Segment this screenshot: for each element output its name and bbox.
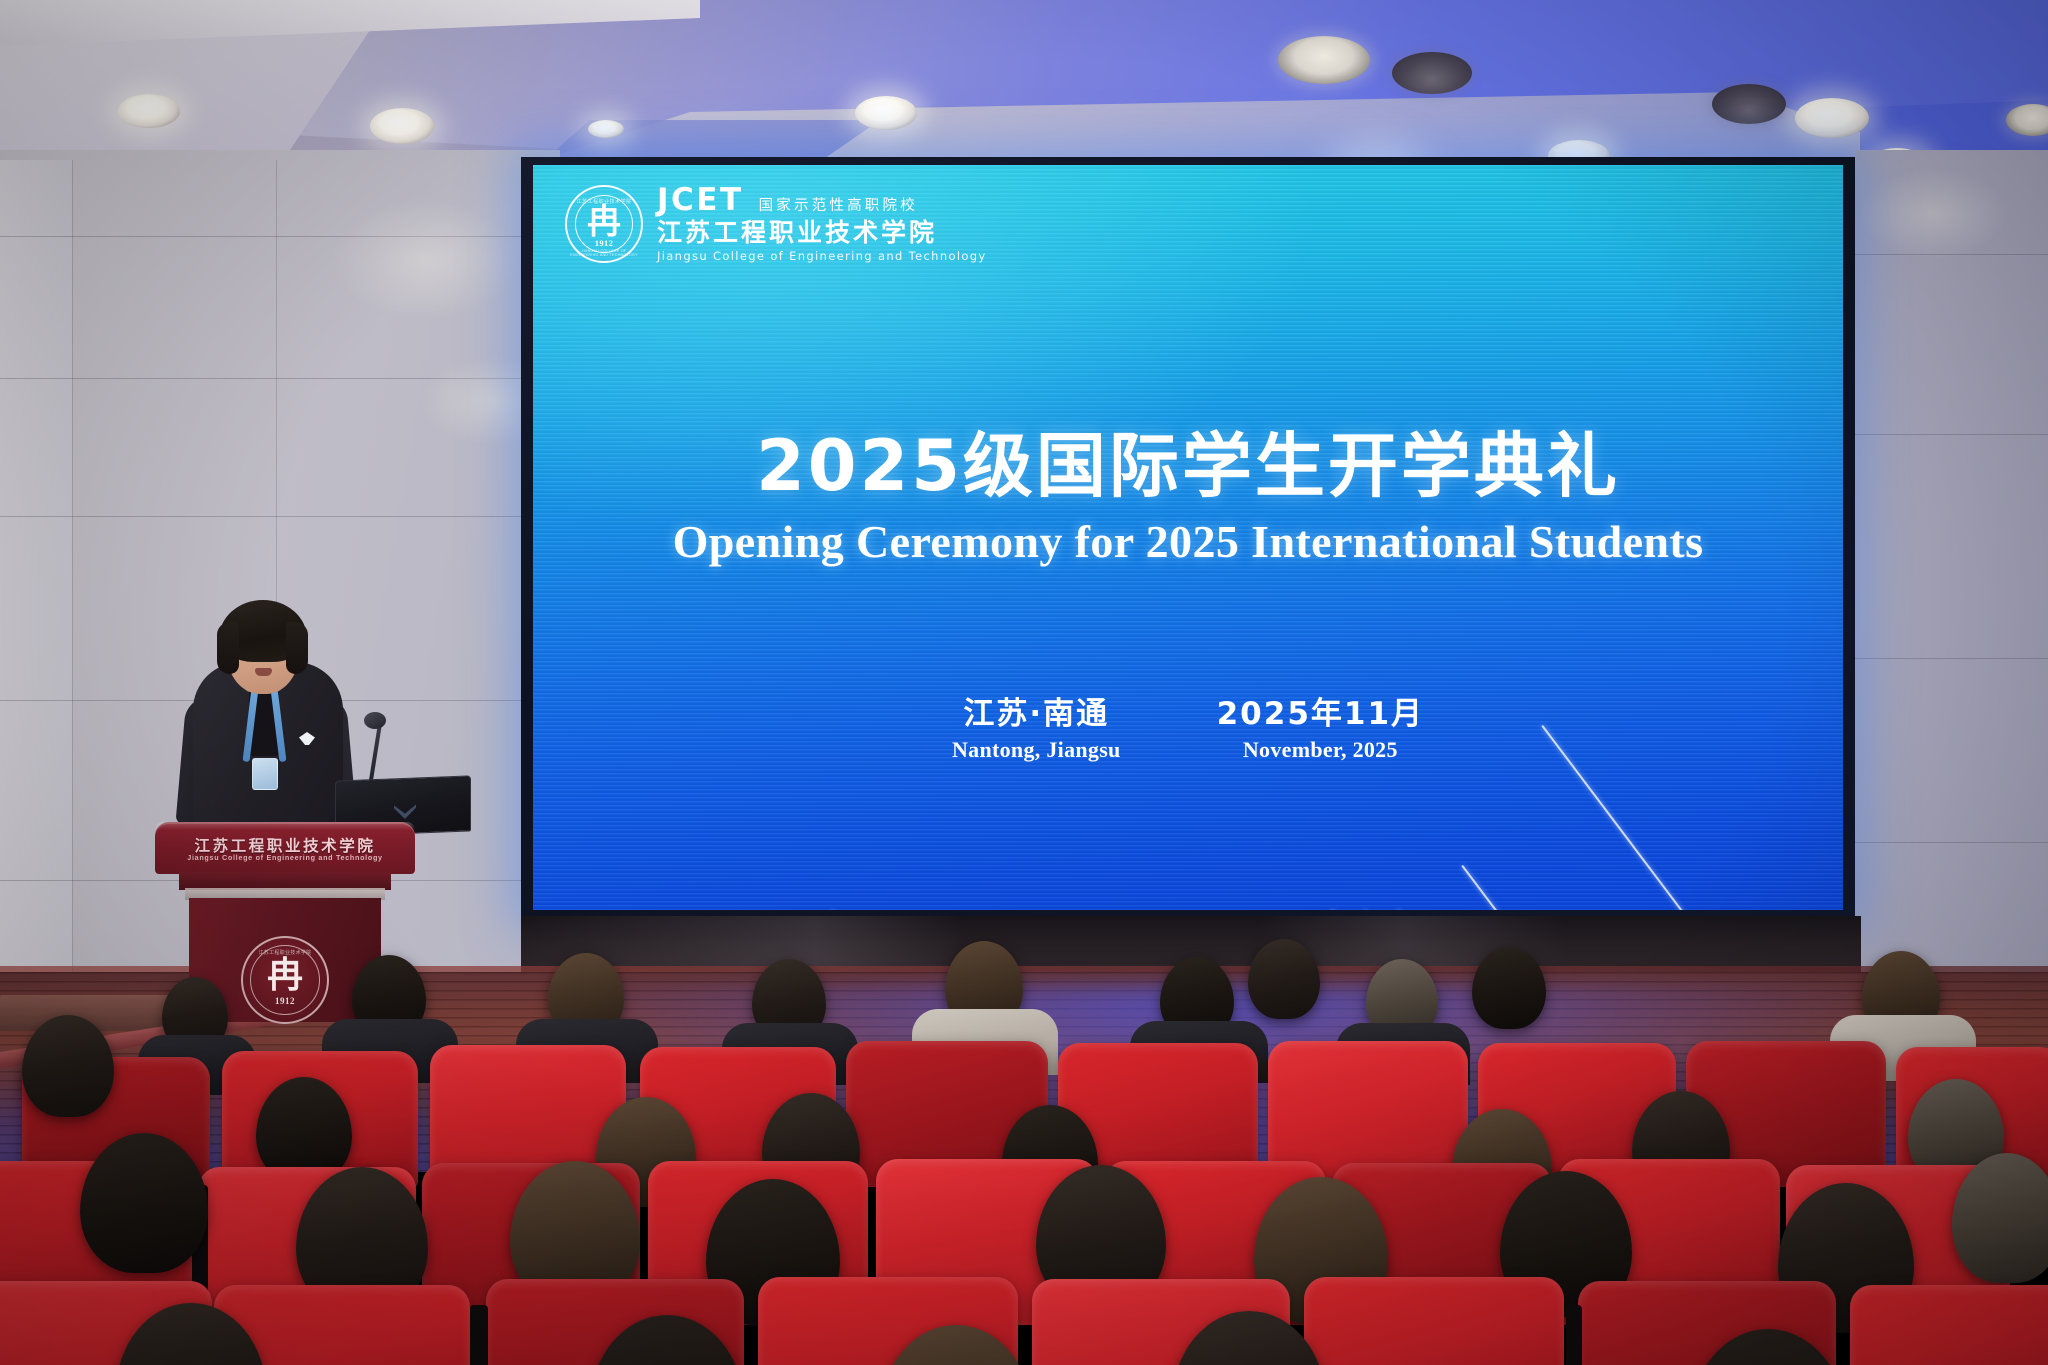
speaker-hair-left xyxy=(217,622,239,674)
wall-panel-seam xyxy=(0,516,560,517)
seal-glyph: 冉 xyxy=(587,205,621,239)
ceiling-downlight xyxy=(1795,98,1869,138)
logo-text-block: JCET 国家示范性高职院校 江苏工程职业技术学院 Jiangsu Colleg… xyxy=(657,185,987,263)
footer-date-english: November, 2025 xyxy=(1217,737,1424,763)
wall-panel-seam xyxy=(1855,842,2048,843)
wall-left-return xyxy=(0,160,72,1040)
footer-location-chinese: 江苏·南通 xyxy=(952,695,1121,734)
audience-head xyxy=(1472,947,1546,1029)
audience-seat[interactable] xyxy=(1850,1285,2048,1365)
wall-panel-seam xyxy=(1855,658,2048,659)
slide-logo: 江苏工程职业技术学院 冉 1912 JIANGSU COLLEGE OF ENG… xyxy=(565,185,987,263)
footer-date-chinese: 2025年11月 xyxy=(1217,695,1424,734)
podium-emblem-glyph: 冉 xyxy=(267,958,303,994)
speaker-mouth xyxy=(255,668,272,676)
logo-acronym: JCET xyxy=(657,185,744,216)
wall-right xyxy=(1855,150,2048,1060)
wall-light-reflection xyxy=(330,200,520,320)
speaker-hair-right xyxy=(286,622,308,674)
college-seal-icon: 江苏工程职业技术学院 冉 1912 JIANGSU COLLEGE OF ENG… xyxy=(565,185,643,263)
audience-seating xyxy=(0,985,2048,1365)
gooseneck-microphone-icon xyxy=(364,712,386,729)
ceiling-downlight xyxy=(588,120,624,138)
id-badge xyxy=(252,758,278,790)
slide-footer: 江苏·南通 Nantong, Jiangsu 2025年11月 November… xyxy=(533,695,1843,763)
audience-head xyxy=(1248,939,1320,1019)
footer-location-english: Nantong, Jiangsu xyxy=(952,737,1121,763)
ceiling-downlight xyxy=(855,96,917,130)
logo-tagline: 国家示范性高职院校 xyxy=(759,199,918,214)
seal-arc-bottom-text: JIANGSU COLLEGE OF ENGINEERING AND TECHN… xyxy=(567,249,641,257)
ceiling-downlight xyxy=(1712,84,1786,124)
logo-top-row: JCET 国家示范性高职院校 xyxy=(657,185,987,216)
footer-location: 江苏·南通 Nantong, Jiangsu xyxy=(952,695,1121,763)
auditorium-scene: 江苏工程职业技术学院 冉 1912 JIANGSU COLLEGE OF ENG… xyxy=(0,0,2048,1365)
wall-light-reflection xyxy=(1858,168,2008,260)
logo-name-chinese: 江苏工程职业技术学院 xyxy=(657,219,987,247)
slide-title-english: Opening Ceremony for 2025 International … xyxy=(533,515,1843,568)
seat-gap xyxy=(1566,1305,1582,1365)
audience-head xyxy=(22,1015,114,1117)
audience-seat[interactable] xyxy=(1304,1277,1564,1365)
podium-name-english: Jiangsu College of Engineering and Techn… xyxy=(155,853,415,862)
footer-date: 2025年11月 November, 2025 xyxy=(1217,695,1424,763)
led-screen: 江苏工程职业技术学院 冉 1912 JIANGSU COLLEGE OF ENG… xyxy=(533,165,1843,910)
slide-title-chinese: 2025级国际学生开学典礼 xyxy=(533,410,1843,511)
ceiling-downlight xyxy=(118,94,180,128)
ceiling-downlight xyxy=(1278,36,1370,84)
wall-panel-seam xyxy=(1855,434,2048,435)
laptop-logo-icon xyxy=(394,805,416,820)
ceiling-downlight xyxy=(1392,52,1472,94)
ceiling-downlight xyxy=(370,108,434,144)
podium-header-panel: 江苏工程职业技术学院 Jiangsu College of Engineerin… xyxy=(155,822,415,874)
wall-panel-seam xyxy=(72,160,73,1040)
logo-name-english: Jiangsu College of Engineering and Techn… xyxy=(657,251,987,263)
seat-gap xyxy=(470,1305,488,1365)
